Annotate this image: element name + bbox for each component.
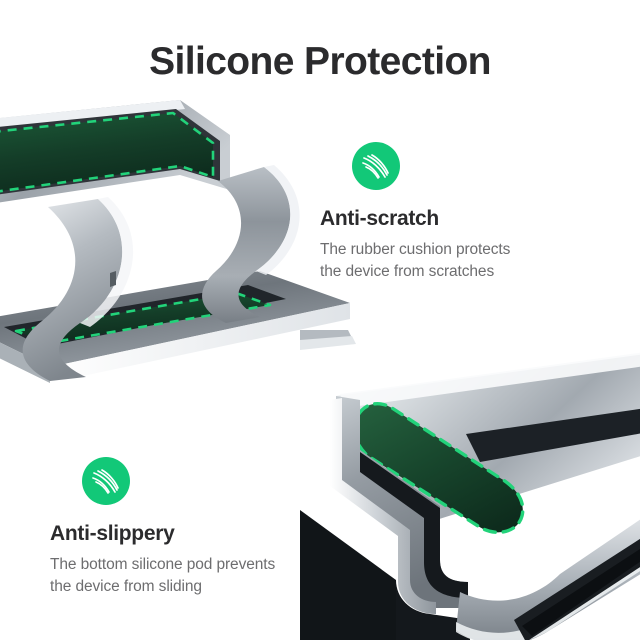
feature-description: The rubber cushion protects the device f…: [320, 239, 550, 283]
scratch-lines-icon: [82, 457, 130, 505]
product-feature-page: Silicone Protection: [0, 0, 640, 640]
feature-description: The bottom silicone pod prevents the dev…: [50, 554, 300, 598]
feature-description-line-1: The rubber cushion protects: [320, 239, 550, 261]
feature-title: Anti-slippery: [50, 521, 300, 547]
feature-description-line-1: The bottom silicone pod prevents: [50, 554, 300, 576]
page-title: Silicone Protection: [0, 38, 640, 86]
product-photo-stand-full: EN: [0, 95, 350, 395]
feature-description-line-2: the device from scratches: [320, 261, 550, 283]
scratch-lines-icon: [352, 142, 400, 190]
feature-anti-slippery: Anti-slippery The bottom silicone pod pr…: [50, 457, 300, 598]
product-photo-stand-closeup: [300, 330, 640, 640]
feature-description-line-2: the device from sliding: [50, 576, 300, 598]
feature-anti-scratch: Anti-scratch The rubber cushion protects…: [320, 142, 550, 283]
feature-title: Anti-scratch: [320, 206, 550, 232]
